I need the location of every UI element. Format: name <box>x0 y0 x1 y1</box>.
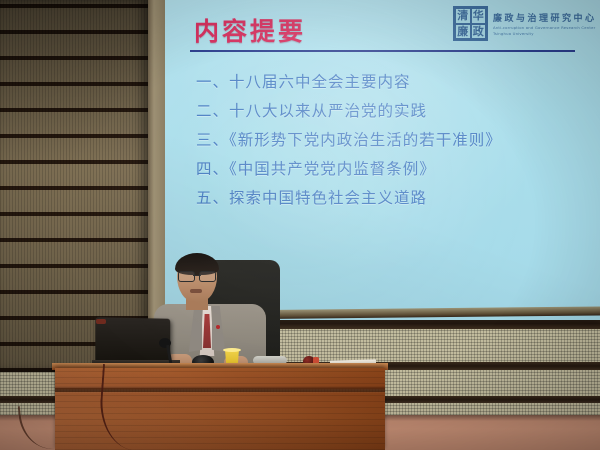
slide-title-rule <box>190 50 575 52</box>
research-center-logo: 清 华 廉 政 廉政与治理研究中心 Anti-corruption and Go… <box>453 6 600 41</box>
list-item: 三、《新形势下党内政治生活的若干准则》 <box>196 126 586 155</box>
eyeglasses-icon <box>178 271 216 280</box>
seal-char-1: 清 <box>455 8 471 24</box>
list-item: 五、探索中国特色社会主义道路 <box>196 184 586 213</box>
seal-char-3: 廉 <box>455 24 471 40</box>
logo-name-en-line1: Anti-corruption and Governance Research … <box>493 25 595 30</box>
lens-left <box>178 271 195 282</box>
seal-logo-icon: 清 华 廉 政 <box>453 6 488 41</box>
lecture-hall-photo: 内容提要 清 华 廉 政 廉政与治理研究中心 Anti-corruption a… <box>0 0 600 450</box>
lapel-pin <box>216 325 220 329</box>
slide-outline-list: 一、十八届六中全会主要内容 二、十八大以来从严治党的实践 三、《新形势下党内政治… <box>196 68 586 213</box>
list-item: 二、十八大以来从严治党的实践 <box>196 97 586 126</box>
slide-title: 内容提要 <box>194 12 306 48</box>
logo-name-cn: 廉政与治理研究中心 <box>493 11 600 24</box>
seal-char-4: 政 <box>471 24 487 40</box>
cup-rim <box>223 348 241 352</box>
laptop-hinge <box>96 319 106 324</box>
left-wall-shading <box>0 0 148 372</box>
seal-char-2: 华 <box>471 8 487 24</box>
list-item: 一、十八届六中全会主要内容 <box>196 68 586 97</box>
logo-text-block: 廉政与治理研究中心 Anti-corruption and Governance… <box>493 11 600 36</box>
logo-name-en-line2: Tsinghua University <box>493 31 595 36</box>
mouth <box>190 289 202 293</box>
list-item: 四、《中国共产党党内监督条例》 <box>196 155 586 184</box>
lens-right <box>199 271 216 282</box>
